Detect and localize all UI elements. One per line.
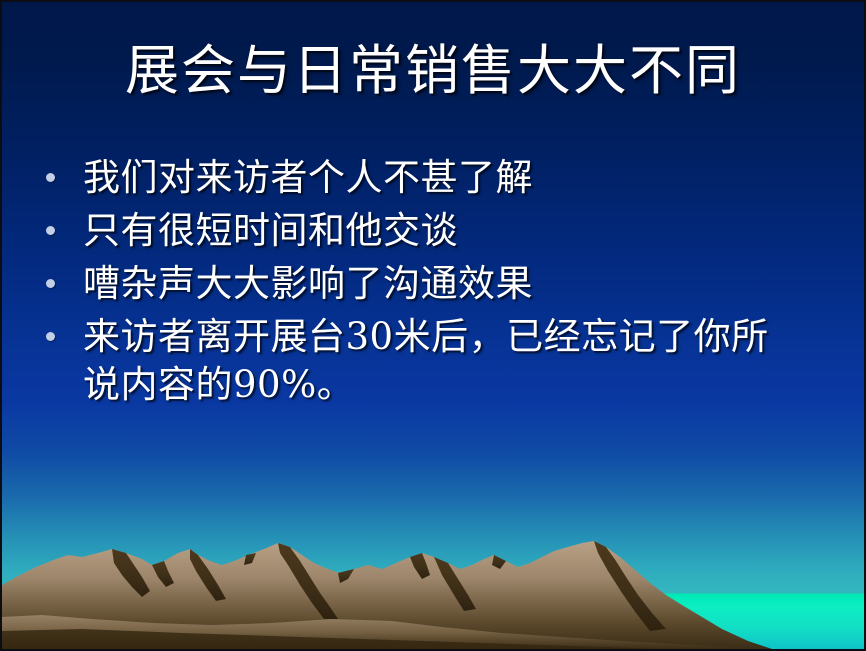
bullet-marker-icon [46, 226, 55, 235]
list-item: 我们对来访者个人不甚了解 [46, 154, 836, 202]
bullet-marker-icon [46, 279, 55, 288]
bullet-list: 我们对来访者个人不甚了解 只有很短时间和他交谈 嘈杂声大大影响了沟通效果 来访者… [46, 154, 836, 414]
mountain-range-graphic [2, 539, 866, 649]
bullet-marker-icon [46, 173, 55, 182]
bullet-marker-icon [46, 332, 55, 341]
list-item: 来访者离开展台30米后，已经忘记了你所说内容的90%。 [46, 313, 836, 409]
list-item-text: 我们对来访者个人不甚了解 [83, 154, 836, 202]
list-item-text: 只有很短时间和他交谈 [83, 207, 836, 255]
slide-title: 展会与日常销售大大不同 [2, 40, 864, 102]
list-item-text: 来访者离开展台30米后，已经忘记了你所说内容的90%。 [83, 313, 799, 409]
presentation-slide: 展会与日常销售大大不同 我们对来访者个人不甚了解 只有很短时间和他交谈 嘈杂声大… [0, 0, 866, 651]
list-item: 只有很短时间和他交谈 [46, 207, 836, 255]
list-item: 嘈杂声大大影响了沟通效果 [46, 260, 836, 308]
list-item-text: 嘈杂声大大影响了沟通效果 [83, 260, 836, 308]
